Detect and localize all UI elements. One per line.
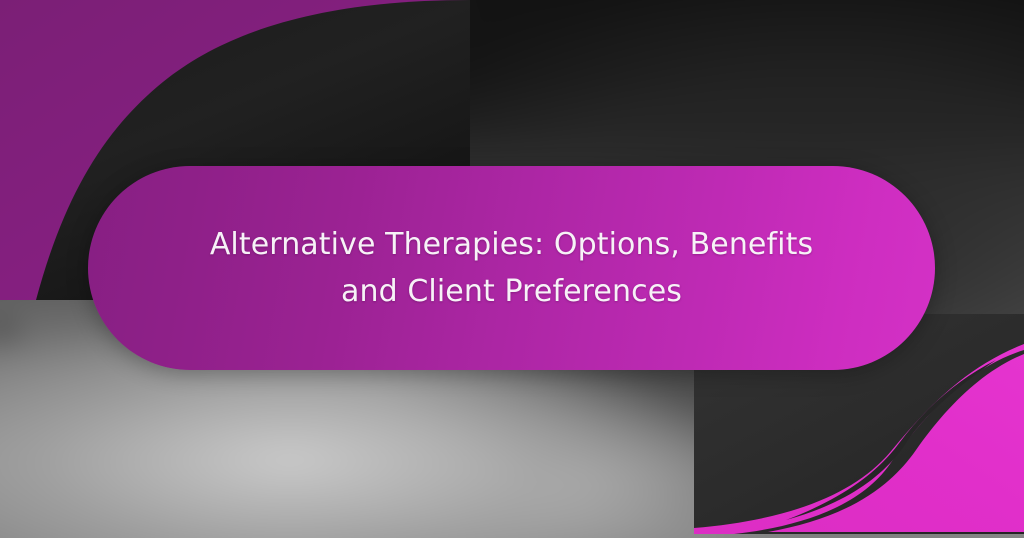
- article-header-banner: Alternative Therapies: Options, Benefits…: [0, 0, 1024, 538]
- title-pill: Alternative Therapies: Options, Benefits…: [88, 166, 935, 370]
- page-title: Alternative Therapies: Options, Benefits…: [182, 221, 842, 316]
